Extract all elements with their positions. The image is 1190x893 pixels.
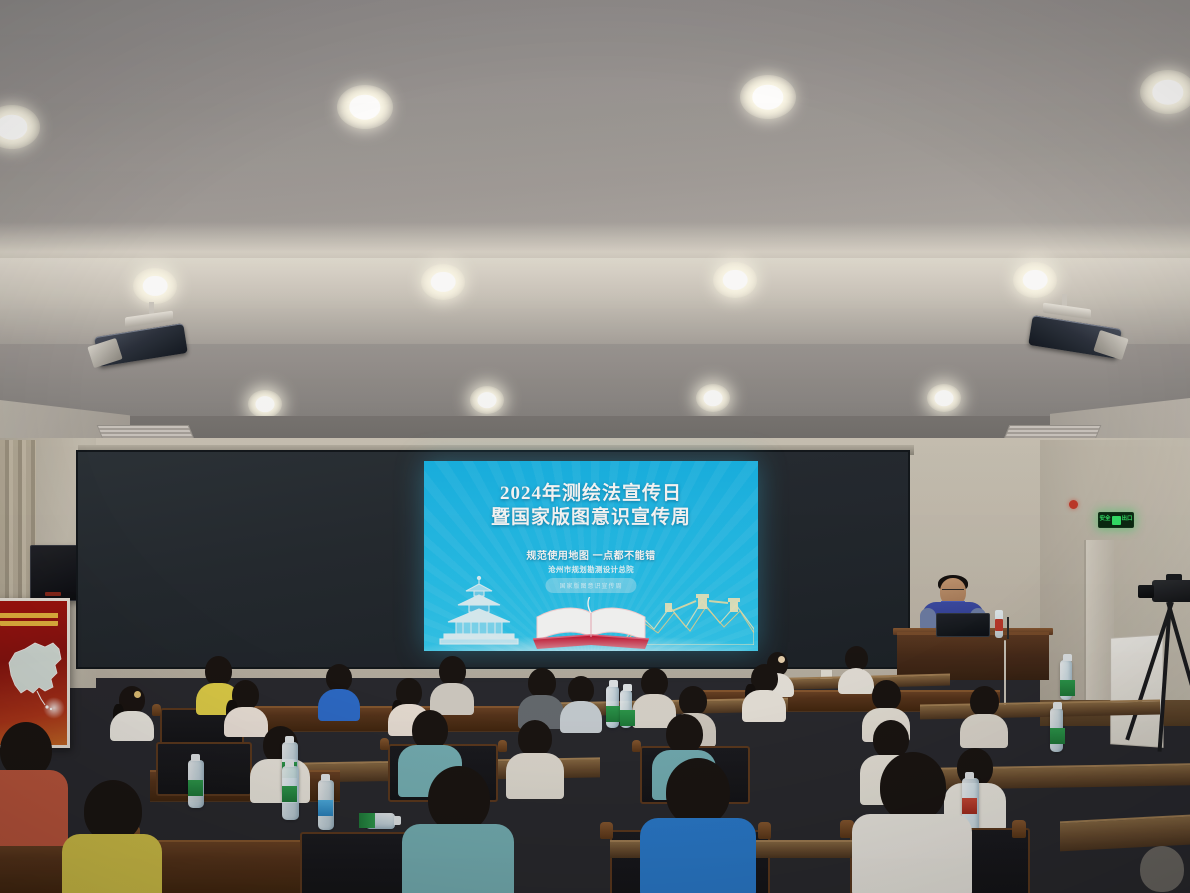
bottle-cap [285,760,294,767]
person-head [518,720,552,757]
ceiling-light [337,85,393,129]
person-head [880,752,946,822]
poster-light-glare [43,697,65,719]
person-torso [852,814,972,893]
chair-back [156,742,252,796]
bottle-label [606,706,621,722]
audience-member [518,668,564,726]
bottle-label [282,786,297,802]
person-head [326,664,352,692]
bottle-label [359,813,375,828]
ceiling-light [248,390,282,418]
hair-tie [134,691,141,698]
poster-headline-band [0,610,58,626]
bottle-cap [1063,654,1072,661]
person-head [970,686,999,717]
audience-member [0,722,68,842]
person-torso [402,824,514,893]
person-torso [960,714,1008,748]
microphone-stand [1007,617,1009,639]
slide-bottom-glow [424,635,758,651]
bottle-cap [285,736,294,743]
person-head [666,714,703,754]
emergency-exit-sign: 安全 出口 [1098,512,1134,528]
ceiling-light [470,386,504,414]
fire-alarm-icon [1069,500,1078,509]
person-head [568,676,594,704]
slide-title: 2024年测绘法宣传日 暨国家版图意识宣传周 [424,482,758,530]
chair-knob [758,822,771,839]
podium [897,632,1049,680]
audience-member [560,676,602,730]
bottle-label [318,800,333,816]
ceiling-light [927,384,961,412]
audience-member [640,758,756,893]
water-bottle [1060,660,1072,700]
bottle-cap [394,816,401,825]
ceiling-upper [0,0,1190,262]
ceiling-light [1013,262,1057,298]
exit-sign-label-left: 安全 [1099,517,1110,523]
seat-row-front [0,840,350,893]
water-bottle [318,780,334,830]
person-head [666,758,730,826]
ceiling-projector-right [1014,310,1124,368]
slide-pill-badge: 国家版图意识宣传周 [545,578,636,593]
person-head [528,668,556,698]
audience-member [506,720,564,798]
person-torso [0,770,68,846]
person-head [428,766,490,832]
water-bottle [606,686,619,728]
audience-member [318,664,360,718]
camera-tripod [1140,580,1190,760]
bottle-label [1060,680,1075,696]
person-torso [318,689,360,721]
person-torso [110,711,154,741]
chair-knob [600,822,613,839]
ceiling-light [713,262,757,298]
podium-water-bottle [995,610,1003,638]
chair-knob [632,740,641,752]
exit-sign-label-right: 出口 [1122,517,1133,523]
video-camera-body [1152,580,1190,602]
projected-slide: 2024年测绘法宣传日 暨国家版图意识宣传周 规范使用地图 一点都不能错 沧州市… [424,461,758,651]
hair-tie [778,656,785,663]
ceiling-light [740,75,796,119]
person-head [1140,846,1184,892]
bottle-label [188,780,203,796]
person-torso [506,753,564,799]
chair-knob [380,738,389,750]
ceiling-light [1140,70,1190,114]
audience-member [960,686,1008,746]
person-torso [560,701,602,733]
bottle-cap [191,754,200,761]
audience-member [110,686,154,738]
slide-title-line1: 2024年测绘法宣传日 [424,482,758,506]
audience-member [1128,846,1190,893]
ceiling-light [133,268,177,304]
presenter-laptop [936,613,990,637]
chair-knob [1012,820,1026,838]
water-bottle [282,766,299,820]
auditorium-scene: 安全 出口 2024年测绘法宣传日 暨国家版图意识宣传周 规范使用地图 一点都不… [0,0,1190,893]
audience-member [742,664,786,720]
person-head [641,668,668,697]
audience-member [62,780,162,893]
person-head [679,686,707,716]
person-head [84,780,142,842]
water-bottle [620,690,632,728]
slide-title-line2: 暨国家版图意识宣传周 [424,506,758,530]
water-bottle [188,760,204,808]
bottle-cap [1053,702,1062,709]
chair-back [300,832,416,893]
slide-subtitle: 规范使用地图 一点都不能错 [424,547,758,562]
wall-speaker [30,545,78,601]
person-torso [250,759,310,803]
person-head [412,710,448,750]
audience-member [852,752,972,893]
ceiling-light [421,264,465,300]
person-torso [62,834,162,893]
water-bottle [1050,708,1063,752]
slide-organization: 沧州市规划勘测设计总院 [424,564,758,575]
bottle-cap [609,680,618,687]
audience-member [430,656,474,714]
camera-lens-icon [1138,585,1154,598]
person-torso [640,818,756,893]
glasses-icon [942,589,964,594]
audience-member [250,726,310,800]
bottle-cap [321,774,330,781]
bottle-cap [623,684,632,691]
ceiling-projector-left [92,318,202,376]
water-bottle [365,813,395,829]
person-head [439,656,466,686]
audience-member [402,766,514,893]
person-head [872,680,901,711]
ceiling-light [696,384,730,412]
bottle-label [1050,728,1065,744]
bottle-label [620,710,635,726]
person-torso [742,690,786,722]
running-person-icon [1112,516,1121,525]
